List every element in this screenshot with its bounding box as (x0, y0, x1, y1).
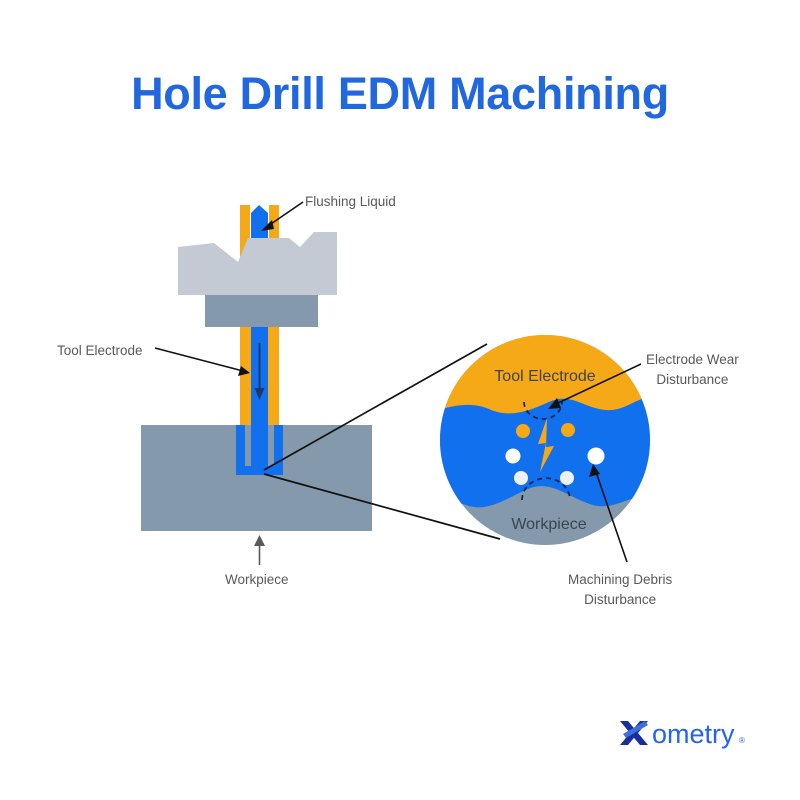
chuck-collar (205, 295, 318, 327)
debris-orange-1 (516, 424, 530, 438)
leader-tool-electrode (155, 348, 250, 376)
xometry-x-mark (620, 721, 648, 745)
detail-label-workpiece: Workpiece (511, 516, 586, 533)
drilled-hole-gap (251, 425, 268, 475)
xometry-registered-mark: ® (739, 736, 745, 745)
label-electrode-wear-disturbance: Electrode Wear Disturbance (646, 350, 739, 389)
debris-white-2 (514, 471, 528, 485)
xometry-logo: ometry ® (618, 716, 746, 750)
detail-label-tool-electrode: Tool Electrode (494, 368, 595, 385)
diagram-canvas: Tool Electrode Workpiece (0, 0, 800, 800)
detail-circle: Tool Electrode Workpiece (430, 325, 660, 562)
debris-white-3 (560, 471, 574, 485)
label-flushing-liquid: Flushing Liquid (305, 192, 396, 212)
debris-orange-2 (561, 423, 575, 437)
debris-white-1 (506, 449, 521, 464)
leader-workpiece (254, 535, 265, 565)
debris-white-4 (588, 448, 605, 465)
label-tool-electrode: Tool Electrode (57, 341, 143, 361)
xometry-wordmark: ometry (652, 719, 735, 749)
page-root: Hole Drill EDM Machining (0, 0, 800, 800)
label-workpiece: Workpiece (225, 570, 289, 590)
machine-head (178, 232, 337, 295)
label-machining-debris-disturbance: Machining Debris Disturbance (568, 570, 672, 609)
left-diagram (141, 202, 500, 565)
